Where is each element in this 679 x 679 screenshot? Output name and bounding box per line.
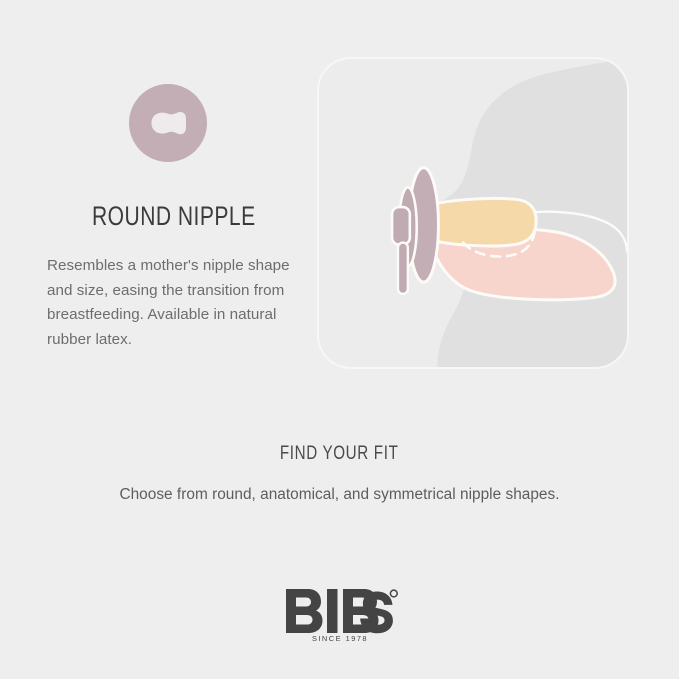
pacifier-handle-shape	[398, 243, 408, 294]
bibs-logo-icon: SINCE 1978	[280, 585, 400, 643]
feature-description: Resembles a mother's nipple shape and si…	[47, 254, 293, 353]
round-nipple-shape-icon	[129, 84, 207, 162]
feature-title: ROUND NIPPLE	[92, 201, 252, 232]
registered-trademark-icon	[390, 590, 397, 597]
pacifier-tab-shape	[392, 207, 410, 245]
brand-logo: SINCE 1978	[0, 585, 679, 643]
find-your-fit-subtitle: Choose from round, anatomical, and symme…	[0, 486, 679, 504]
hero-section: ROUND NIPPLE Resembles a mother's nipple…	[0, 0, 679, 400]
find-your-fit-section: FIND YOUR FIT Choose from round, anatomi…	[0, 443, 679, 504]
pacifier-nipple-shape	[430, 198, 537, 246]
find-your-fit-title: FIND YOUR FIT	[280, 443, 399, 465]
feature-info-column: ROUND NIPPLE Resembles a mother's nipple…	[47, 84, 297, 353]
illustration-card	[317, 57, 629, 369]
product-feature-page: ROUND NIPPLE Resembles a mother's nipple…	[0, 0, 679, 679]
pacifier-in-mouth-diagram	[319, 59, 627, 367]
logo-tagline: SINCE 1978	[311, 634, 367, 643]
